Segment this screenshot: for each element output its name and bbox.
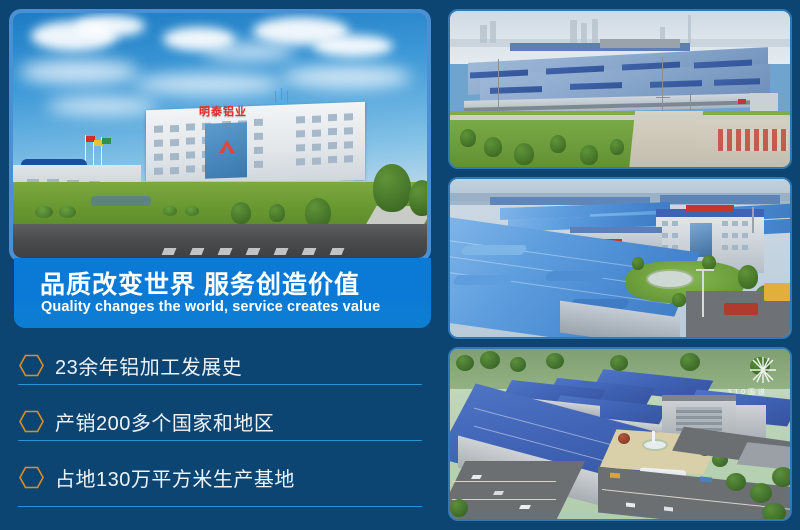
feature-item-countries[interactable]: 产销200多个国家和地区 — [0, 394, 440, 450]
pond — [91, 196, 151, 206]
slogan-banner: 品质改变世界 服务创造价值 Quality changes the world,… — [14, 258, 431, 328]
feature-label: 占地130万平方米生产基地 — [55, 463, 295, 492]
slogan-chinese: 品质改变世界 服务创造价值 — [40, 265, 360, 301]
feature-item-area[interactable]: 占地130万平方米生产基地 — [0, 450, 440, 506]
hero-photo: 明泰铝业 — [13, 13, 427, 258]
building-entrance-glass — [205, 122, 247, 178]
office-building-left-wing — [146, 102, 365, 188]
panel-industrial-park-render: 310国道 — [448, 347, 792, 521]
lawn — [13, 182, 427, 226]
feature-divider — [18, 440, 422, 441]
hexagon-icon — [19, 354, 44, 377]
panel-aerial-factory-wide — [448, 9, 792, 169]
feature-list: 23余年铝加工发展史 产销200多个国家和地区 占地130万 — [0, 338, 440, 506]
right-column: 310国道 — [440, 0, 800, 530]
feature-divider — [18, 506, 422, 507]
promo-banner-page: 明泰铝业 — [0, 0, 800, 530]
slogan-english: Quality changes the world, service creat… — [41, 299, 380, 315]
building-sign-text: 明泰铝业 — [199, 103, 247, 119]
feature-label: 产销200多个国家和地区 — [55, 407, 274, 436]
feature-item-history[interactable]: 23余年铝加工发展史 — [0, 338, 440, 394]
sunburst-icon — [750, 357, 776, 383]
panel-aerial-factory-campus — [448, 177, 792, 339]
feature-label: 23余年铝加工发展史 — [55, 351, 242, 380]
hexagon-icon — [19, 410, 44, 433]
feature-divider — [18, 384, 422, 385]
hexagon-icon — [19, 466, 44, 489]
hero-photo-frame: 明泰铝业 — [9, 9, 431, 262]
left-column: 明泰铝业 — [0, 0, 440, 530]
